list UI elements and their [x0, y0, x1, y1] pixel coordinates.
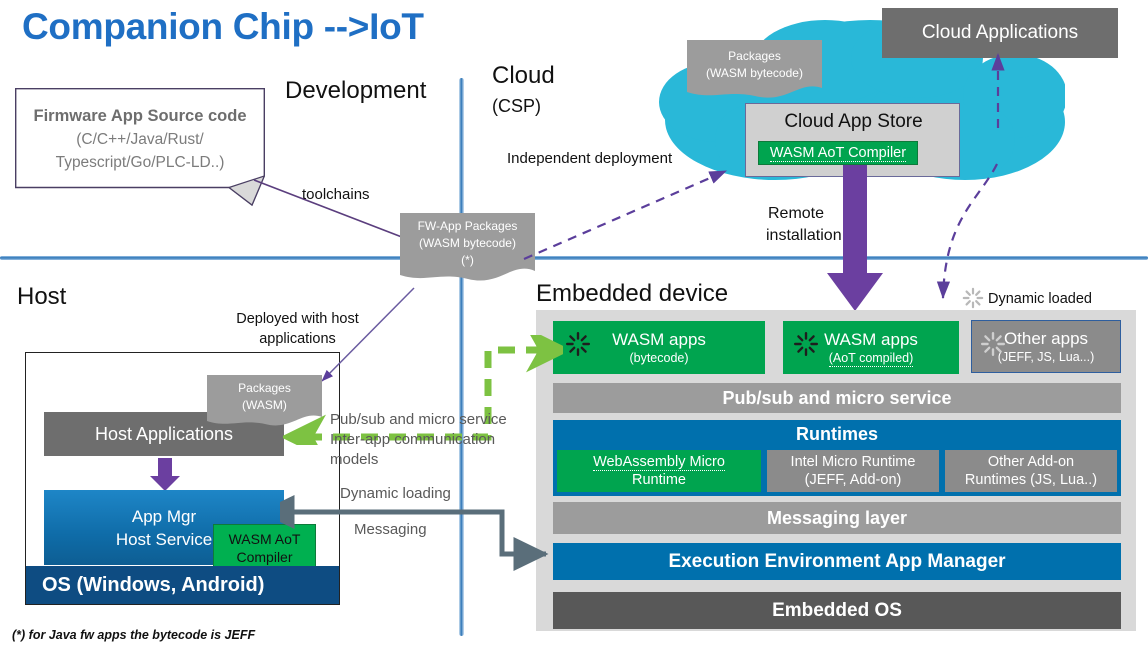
embedded-os-bar: Embedded OS [553, 592, 1121, 629]
divider-horizontal-left [0, 256, 462, 260]
cloud-packages-callout: Packages (WASM bytecode) [687, 40, 822, 102]
embedded-app-box-2: Other apps (JEFF, JS, Lua...) [971, 320, 1121, 373]
independent-deployment-arrow [520, 165, 740, 265]
host-app-mgr-line2: Host Service [116, 528, 212, 551]
pubsub-middle-line2: Inter-app communication models [330, 430, 545, 470]
embedded-runtime-box-0: WebAssembly Micro Runtime [557, 450, 761, 492]
messaging-label: Messaging [354, 521, 427, 538]
slide-canvas: Companion Chip -->IoT Development Cloud … [0, 0, 1148, 653]
embedded-runtime-line1-1: Intel Micro Runtime [791, 453, 916, 471]
spinner-icon-app-2 [980, 331, 1006, 357]
embedded-runtime-line2-2: Runtimes (JS, Lua..) [965, 472, 1097, 488]
embedded-app-manager: Execution Environment App Manager [553, 543, 1121, 580]
embedded-runtime-line2-0: Runtime [632, 471, 686, 489]
firmware-source-code-box: Firmware App Source code (C/C++/Java/Rus… [15, 88, 265, 208]
embedded-runtime-box-1: Intel Micro Runtime (JEFF, Add-on) [767, 450, 939, 492]
host-internal-down-arrow [148, 458, 182, 492]
host-os-label: OS (Windows, Android) [26, 574, 264, 597]
embedded-runtime-box-2: Other Add-on Runtimes (JS, Lua..) [945, 450, 1117, 492]
embedded-runtime-line1-0: WebAssembly Micro [593, 454, 725, 471]
pubsub-middle-line1: Pub/sub and micro service [330, 410, 545, 430]
cloud-apps-dashed-arrow [980, 48, 1020, 130]
cloud-app-store-title: Cloud App Store [746, 108, 961, 136]
pubsub-middle-label: Pub/sub and micro service Inter-app comm… [330, 410, 545, 470]
embedded-app-sub-2: (JEFF, JS, Lua...) [998, 349, 1095, 365]
section-label-host: Host [17, 283, 66, 311]
embedded-runtime-line2-1: (JEFF, Add-on) [805, 471, 902, 489]
firmware-source-line1: (C/C++/Java/Rust/ [76, 128, 204, 151]
embedded-runtime-line1-2: Other Add-on [988, 453, 1074, 471]
embedded-app-manager-label: Execution Environment App Manager [668, 551, 1005, 573]
embedded-app-sub-0: (bytecode) [629, 350, 688, 366]
embedded-pubsub-bar-label: Pub/sub and micro service [722, 388, 951, 409]
remote-installation-label: Remote installation [766, 203, 826, 247]
cloud-applications-label: Cloud Applications [922, 22, 1078, 44]
section-label-cloud-sub: (CSP) [492, 96, 541, 117]
toolchains-label: toolchains [302, 186, 370, 203]
fw-app-packages-callout: FW-App Packages (WASM bytecode) (*) [400, 213, 535, 285]
cloud-wasm-aot-compiler-label: WASM AoT Compiler [770, 145, 906, 162]
embedded-app-title-1: WASM apps [824, 329, 918, 350]
firmware-source-line2: Typescript/Go/PLC-LD..) [56, 151, 225, 174]
embedded-app-box-1: WASM apps (AoT compiled) [783, 321, 959, 374]
embedded-messaging-layer: Messaging layer [553, 502, 1121, 534]
host-app-mgr-line1: App Mgr [132, 505, 196, 528]
cloud-wasm-aot-compiler-box: WASM AoT Compiler [758, 141, 918, 165]
embedded-os-label: Embedded OS [772, 600, 902, 622]
page-title: Companion Chip -->IoT [22, 2, 662, 52]
spinner-icon-app-0 [565, 331, 591, 357]
embedded-app-title-2: Other apps [1004, 328, 1088, 349]
embedded-messaging-layer-label: Messaging layer [767, 508, 907, 529]
spinner-icon-legend [962, 287, 984, 309]
section-label-cloud: Cloud [492, 62, 555, 90]
embedded-app-title-0: WASM apps [612, 329, 706, 350]
embedded-runtimes-block: Runtimes WebAssembly Micro Runtime Intel… [553, 420, 1121, 496]
footnote: (*) for Java fw apps the bytecode is JEF… [12, 628, 255, 642]
independent-deployment-label: Independent deployment [507, 150, 672, 167]
section-label-embedded-device: Embedded device [536, 280, 728, 308]
dynamic-loading-label: Dynamic loading [340, 485, 451, 502]
embedded-pubsub-bar: Pub/sub and micro service [553, 383, 1121, 413]
dynamic-loaded-legend-label: Dynamic loaded [988, 291, 1092, 307]
spinner-icon-app-1 [793, 331, 819, 357]
section-label-development: Development [285, 77, 426, 105]
embedded-runtimes-title: Runtimes [796, 424, 878, 445]
remote-installation-line1: Remote [766, 203, 826, 225]
embedded-app-box-0: WASM apps (bytecode) [553, 321, 765, 374]
embedded-app-sub-1: (AoT compiled) [829, 350, 914, 367]
remote-installation-line2: installation [766, 225, 826, 247]
firmware-source-title: Firmware App Source code [33, 104, 246, 128]
